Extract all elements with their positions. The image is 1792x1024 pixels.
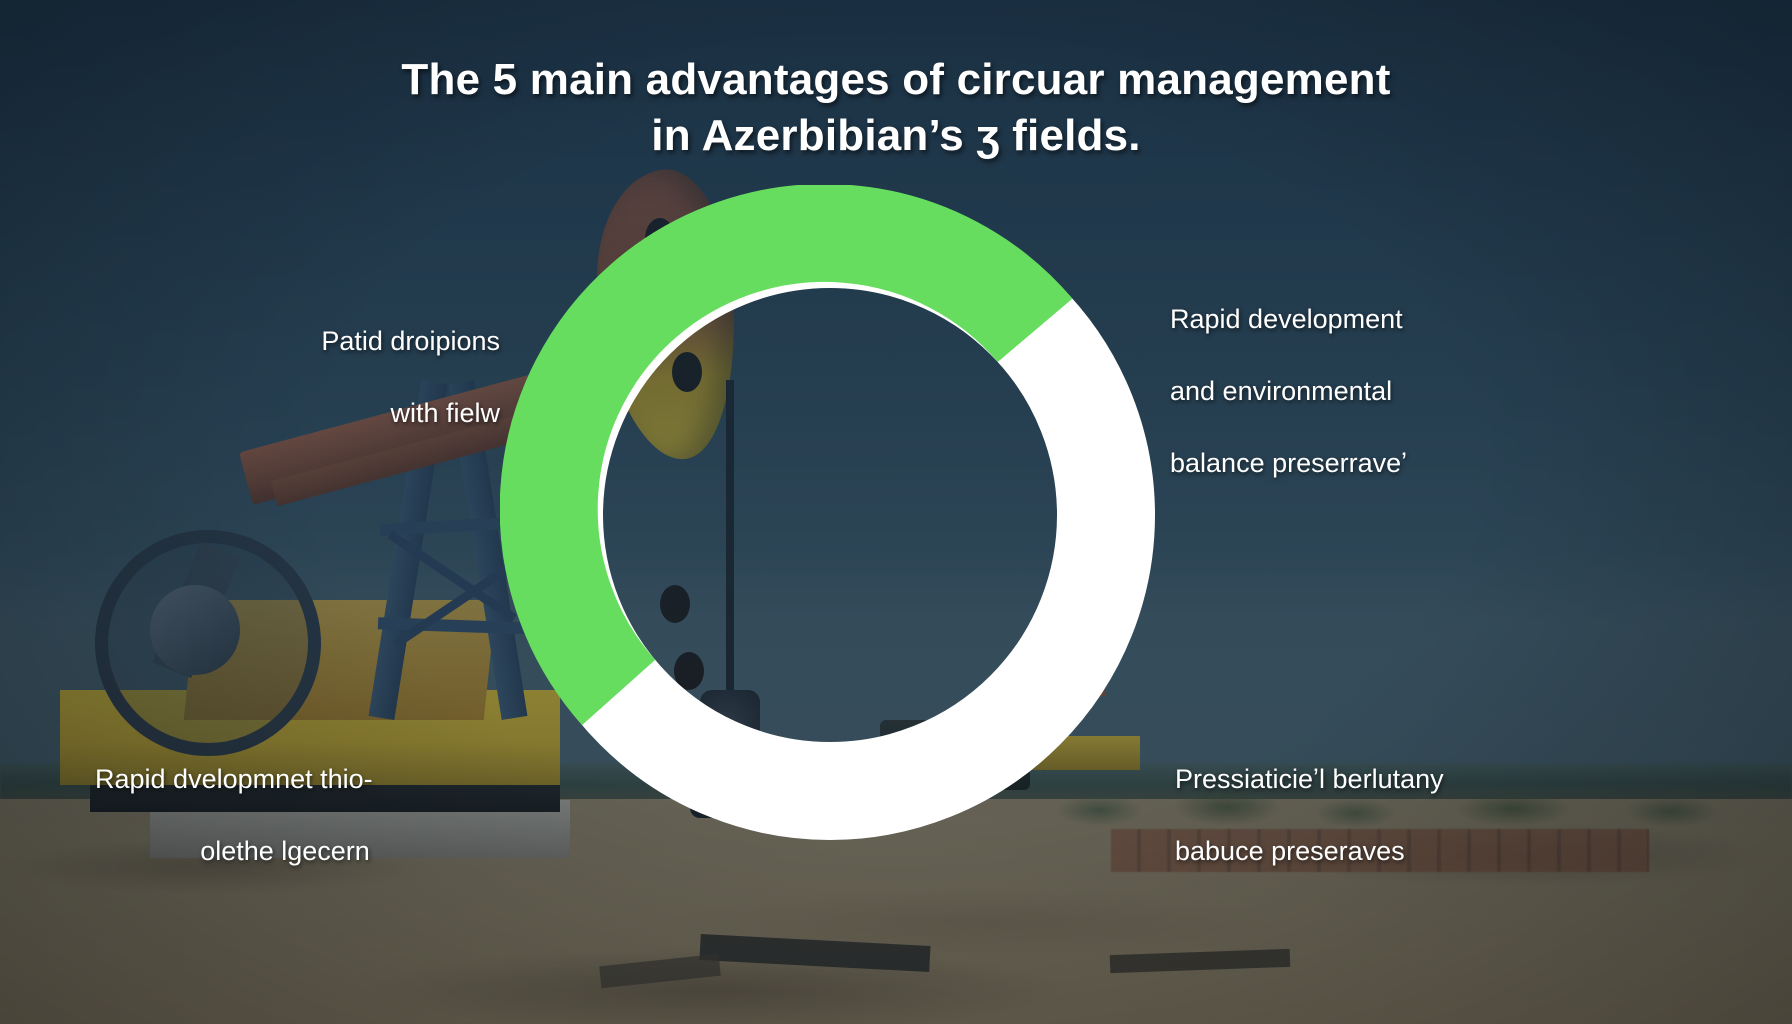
donut-chart <box>500 185 1160 845</box>
label-top-right-line-2: and environmental <box>1170 374 1530 410</box>
title-line-2: in Azerbibian’s ʒ fields. <box>170 108 1622 164</box>
donut-chart-svg <box>500 185 1160 845</box>
label-top-left-line-2: with fielw <box>200 396 500 432</box>
slide-title: The 5 main advantages of circuar managem… <box>0 52 1792 165</box>
label-top-right-line-3: balance preserraveʼ <box>1170 446 1530 482</box>
infographic-slide: The 5 main advantages of circuar managem… <box>0 0 1792 1024</box>
label-top-left: Patid droipions with fielw <box>200 288 500 468</box>
label-top-left-line-1: Patid droipions <box>200 324 500 360</box>
title-line-1: The 5 main advantages of circuar managem… <box>170 52 1622 108</box>
label-bottom-left-line-1: Rapid dvelopmnet thio- <box>95 762 475 798</box>
donut-arc-highlight <box>549 233 1035 693</box>
label-bottom-right-line-2: babuce preseraves <box>1175 834 1535 870</box>
label-top-right: Rapid development and environmental bala… <box>1170 266 1530 517</box>
label-top-right-line-1: Rapid development <box>1170 302 1530 338</box>
label-bottom-left-line-2: olethe lgecern <box>95 834 475 870</box>
label-bottom-right: Pressiaticieʼl berlutany babuce preserav… <box>1175 726 1535 906</box>
label-bottom-left: Rapid dvelopmnet thio- olethe lgecern <box>95 726 475 906</box>
label-bottom-right-line-1: Pressiaticieʼl berlutany <box>1175 762 1535 798</box>
